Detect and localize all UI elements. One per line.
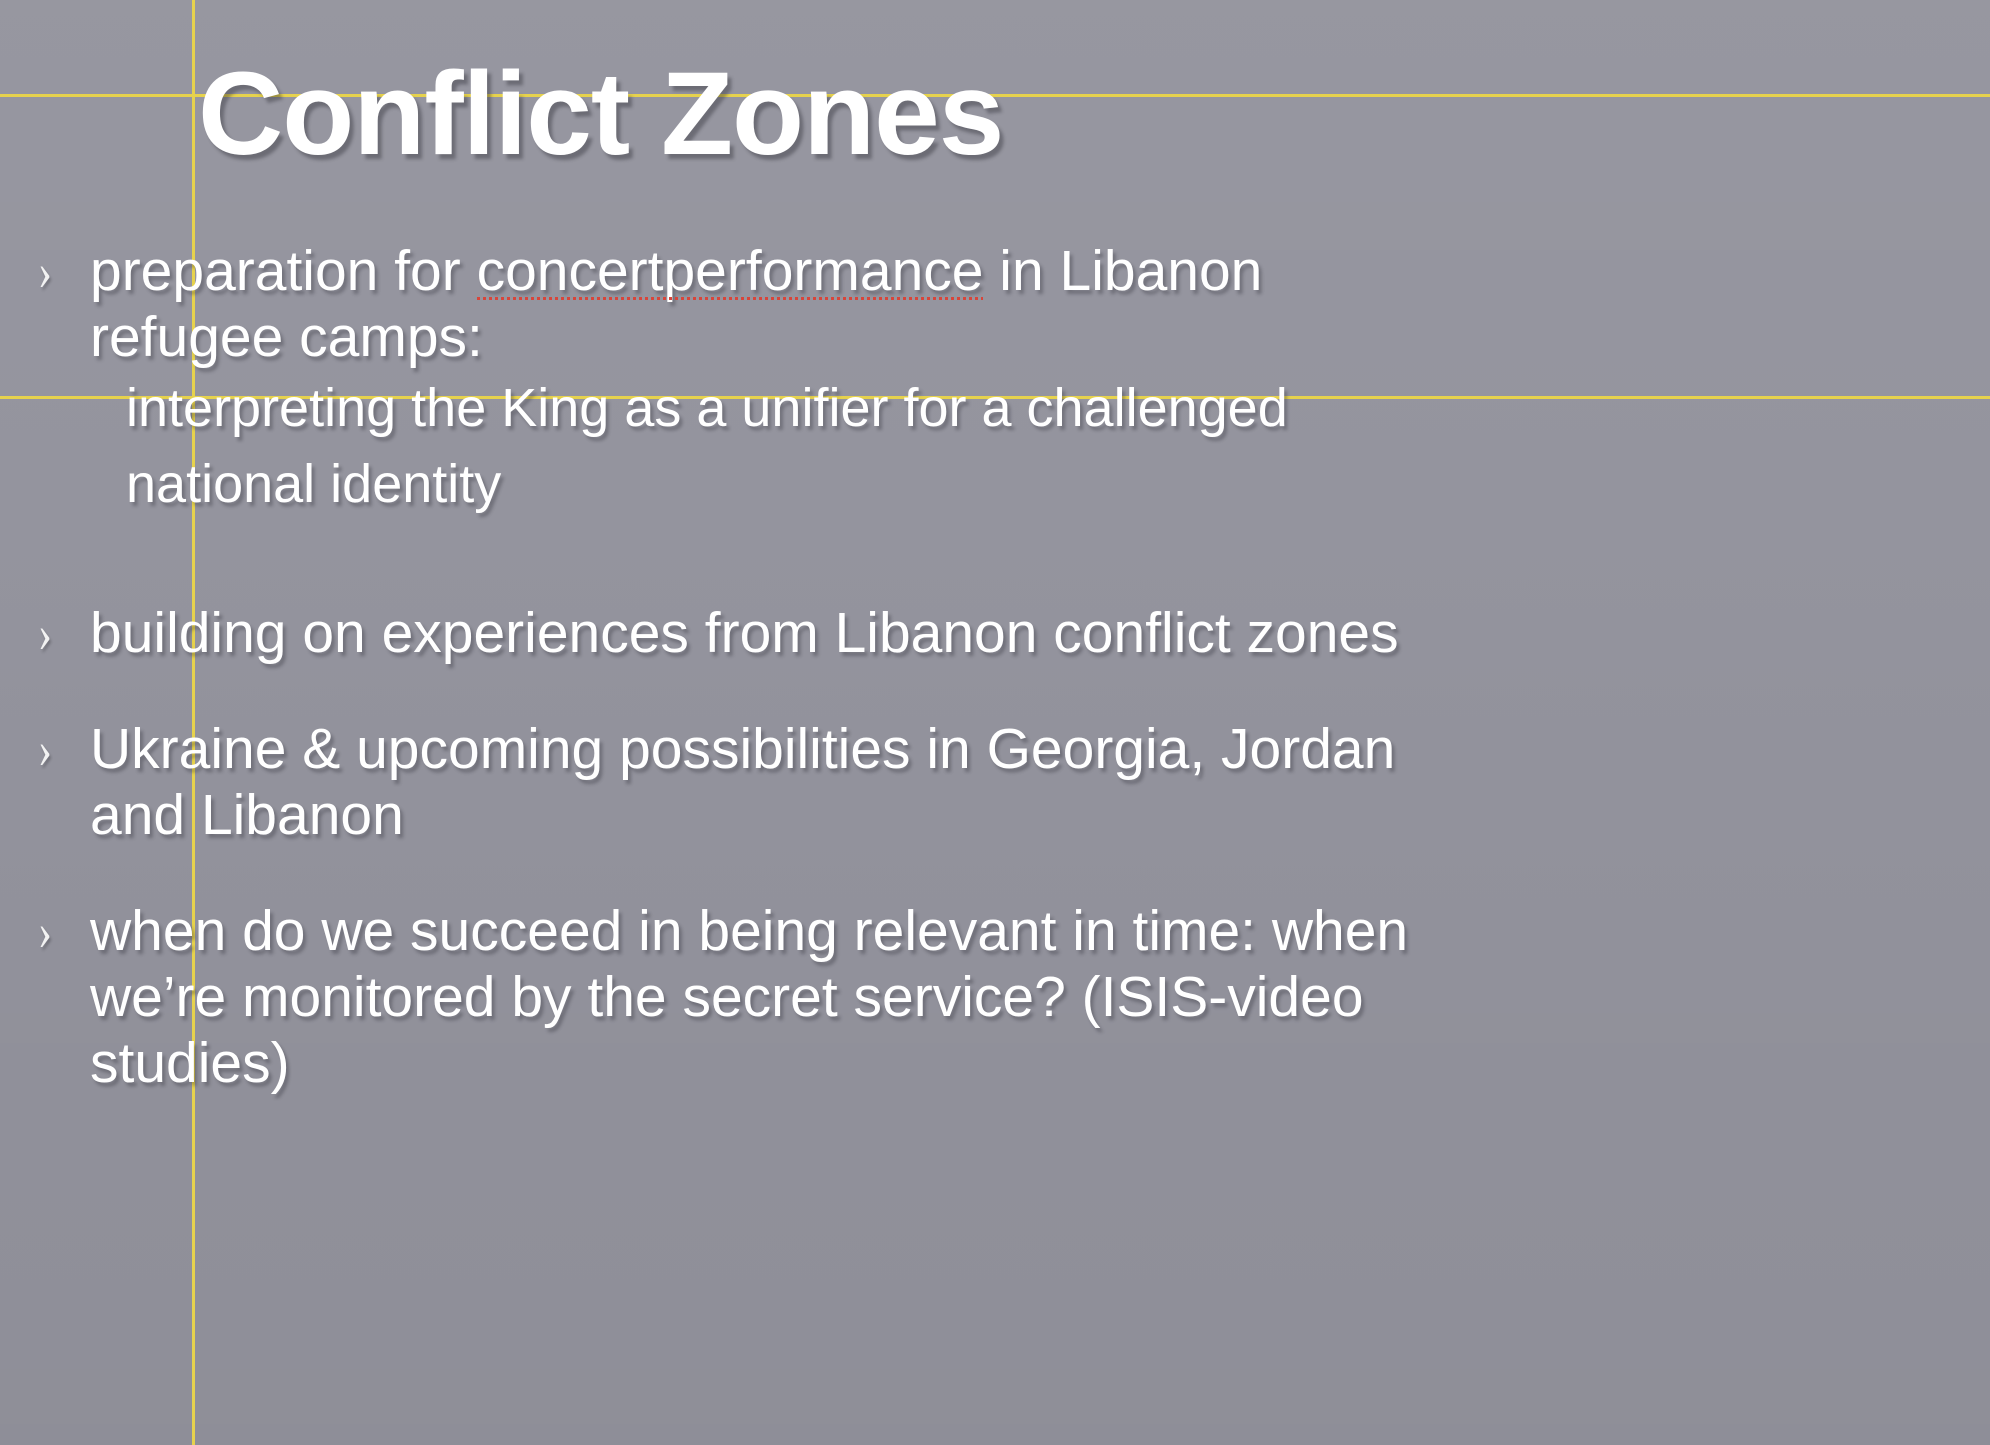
bullet-item-4-line-1: when do we succeed in being relevant in … bbox=[90, 898, 1950, 964]
bullet-item-2-line-1: building on experiences from Libanon con… bbox=[90, 600, 1950, 666]
chevron-right-icon: › bbox=[9, 600, 81, 666]
bullet-item-1-text: preparation for concertperformance in Li… bbox=[90, 238, 1990, 522]
slide-title: Conflict Zones bbox=[198, 55, 1003, 173]
spacer bbox=[0, 690, 1990, 716]
bullet-item-1-sub-line-2: national identity bbox=[90, 446, 1950, 522]
bullet-item-4-line-2: we’re monitored by the secret service? (… bbox=[90, 964, 1950, 1030]
bullet-item-1-segment-a: preparation for bbox=[90, 239, 477, 303]
presentation-slide: Conflict Zones › preparation for concert… bbox=[0, 0, 1990, 1445]
spacer bbox=[0, 872, 1990, 898]
bullet-item-4-text: when do we succeed in being relevant in … bbox=[90, 898, 1990, 1096]
chevron-right-icon: › bbox=[9, 898, 81, 964]
chevron-right-icon: › bbox=[9, 238, 81, 304]
bullet-item-1-line-1: preparation for concertperformance in Li… bbox=[90, 238, 1950, 304]
bullet-item-1[interactable]: › preparation for concertperformance in … bbox=[0, 238, 1990, 522]
misspelled-word[interactable]: concertperformance bbox=[477, 238, 984, 304]
bullet-item-1-sub-line-1: interpreting the King as a unifier for a… bbox=[90, 370, 1950, 446]
bullet-item-2[interactable]: › building on experiences from Libanon c… bbox=[0, 600, 1990, 666]
bullet-item-3-line-1: Ukraine & upcoming possibilities in Geor… bbox=[90, 716, 1950, 782]
bullet-item-3-line-2: and Libanon bbox=[90, 782, 1950, 848]
bullet-item-3[interactable]: › Ukraine & upcoming possibilities in Ge… bbox=[0, 716, 1990, 848]
bullet-item-4[interactable]: › when do we succeed in being relevant i… bbox=[0, 898, 1990, 1096]
bullet-item-4-line-3: studies) bbox=[90, 1030, 1950, 1096]
slide-body: › preparation for concertperformance in … bbox=[0, 238, 1990, 1120]
chevron-right-icon: › bbox=[9, 716, 81, 782]
bullet-item-2-text: building on experiences from Libanon con… bbox=[90, 600, 1990, 666]
spacer bbox=[0, 546, 1990, 600]
bullet-item-3-text: Ukraine & upcoming possibilities in Geor… bbox=[90, 716, 1990, 848]
bullet-item-1-line-2: refugee camps: bbox=[90, 304, 1950, 370]
bullet-item-1-segment-b: in Libanon bbox=[983, 239, 1262, 303]
